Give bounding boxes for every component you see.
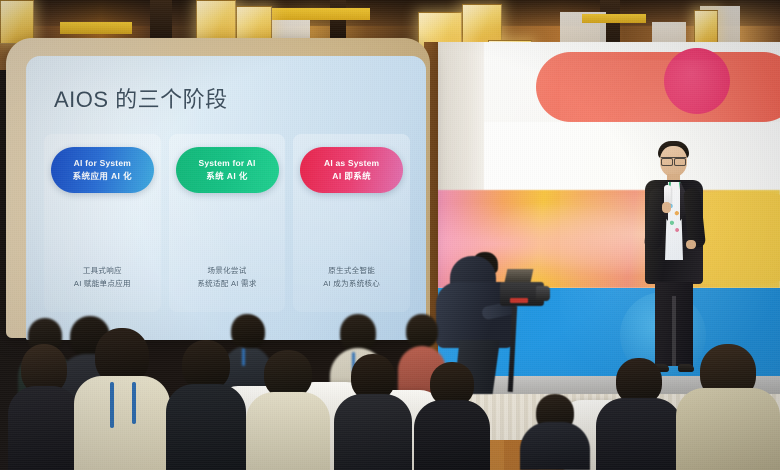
audience-body: [166, 384, 246, 470]
audience-head: [264, 350, 312, 398]
ceiling-light-strip: [60, 22, 132, 34]
audience-member: [246, 350, 330, 470]
audience-head: [340, 314, 376, 352]
audience-body: [246, 392, 330, 470]
stage-pill-ai-as-system: AI as System AI 即系统: [300, 147, 403, 193]
audience-lanyard: [110, 382, 114, 428]
stage-pill-system-for-ai: System for AI 系统 AI 化: [176, 147, 279, 193]
presenter-right-hand: [686, 240, 696, 249]
conference-photo-scene: AIOS 的三个阶段 AI for System 系统应用 AI 化 工具式响应…: [0, 0, 780, 470]
stage-pill-label-en: AI for System: [74, 158, 131, 168]
audience-body: [334, 394, 412, 470]
audience-body: [520, 422, 590, 470]
audience-member: [520, 394, 590, 470]
hanging-lantern: [462, 4, 502, 44]
stage-pill-ai-for-system: AI for System 系统应用 AI 化: [51, 147, 154, 193]
audience-member: [414, 362, 490, 470]
audience-member: [596, 358, 682, 470]
hanging-lantern: [694, 10, 718, 46]
stage-pill-label-en: System for AI: [198, 158, 255, 168]
audience-member: [74, 328, 170, 470]
audience-member: [166, 340, 246, 470]
stage-pill-label-cn: AI 即系统: [332, 170, 371, 182]
backdrop-pink-circle-shape: [664, 48, 730, 114]
glasses-icon: [661, 157, 686, 163]
audience-head: [406, 314, 438, 348]
audience-lanyard: [132, 382, 136, 424]
backdrop-white-block: [484, 122, 780, 190]
audience-head: [182, 340, 230, 390]
audience-member: [334, 354, 412, 470]
stage-pill-label-cn: 系统 AI 化: [206, 170, 248, 182]
audience-body: [596, 398, 682, 470]
ceiling-light-strip: [582, 14, 646, 23]
stage-pill-label-cn: 系统应用 AI 化: [73, 170, 132, 182]
backdrop-coral-pill-shape: [536, 52, 780, 122]
audience-body: [8, 386, 80, 470]
audience-body: [74, 376, 170, 470]
audience-member: [676, 344, 780, 470]
ceiling-beam: [330, 0, 346, 40]
audience-body: [676, 388, 780, 470]
audience: [0, 262, 780, 470]
presenter-left-hand: [662, 202, 671, 213]
audience-body: [414, 400, 490, 470]
stage-pill-label-en: AI as System: [324, 158, 379, 168]
ceiling-light-strip: [260, 8, 370, 20]
audience-member: [8, 344, 80, 470]
slide-title: AIOS 的三个阶段: [54, 82, 228, 114]
